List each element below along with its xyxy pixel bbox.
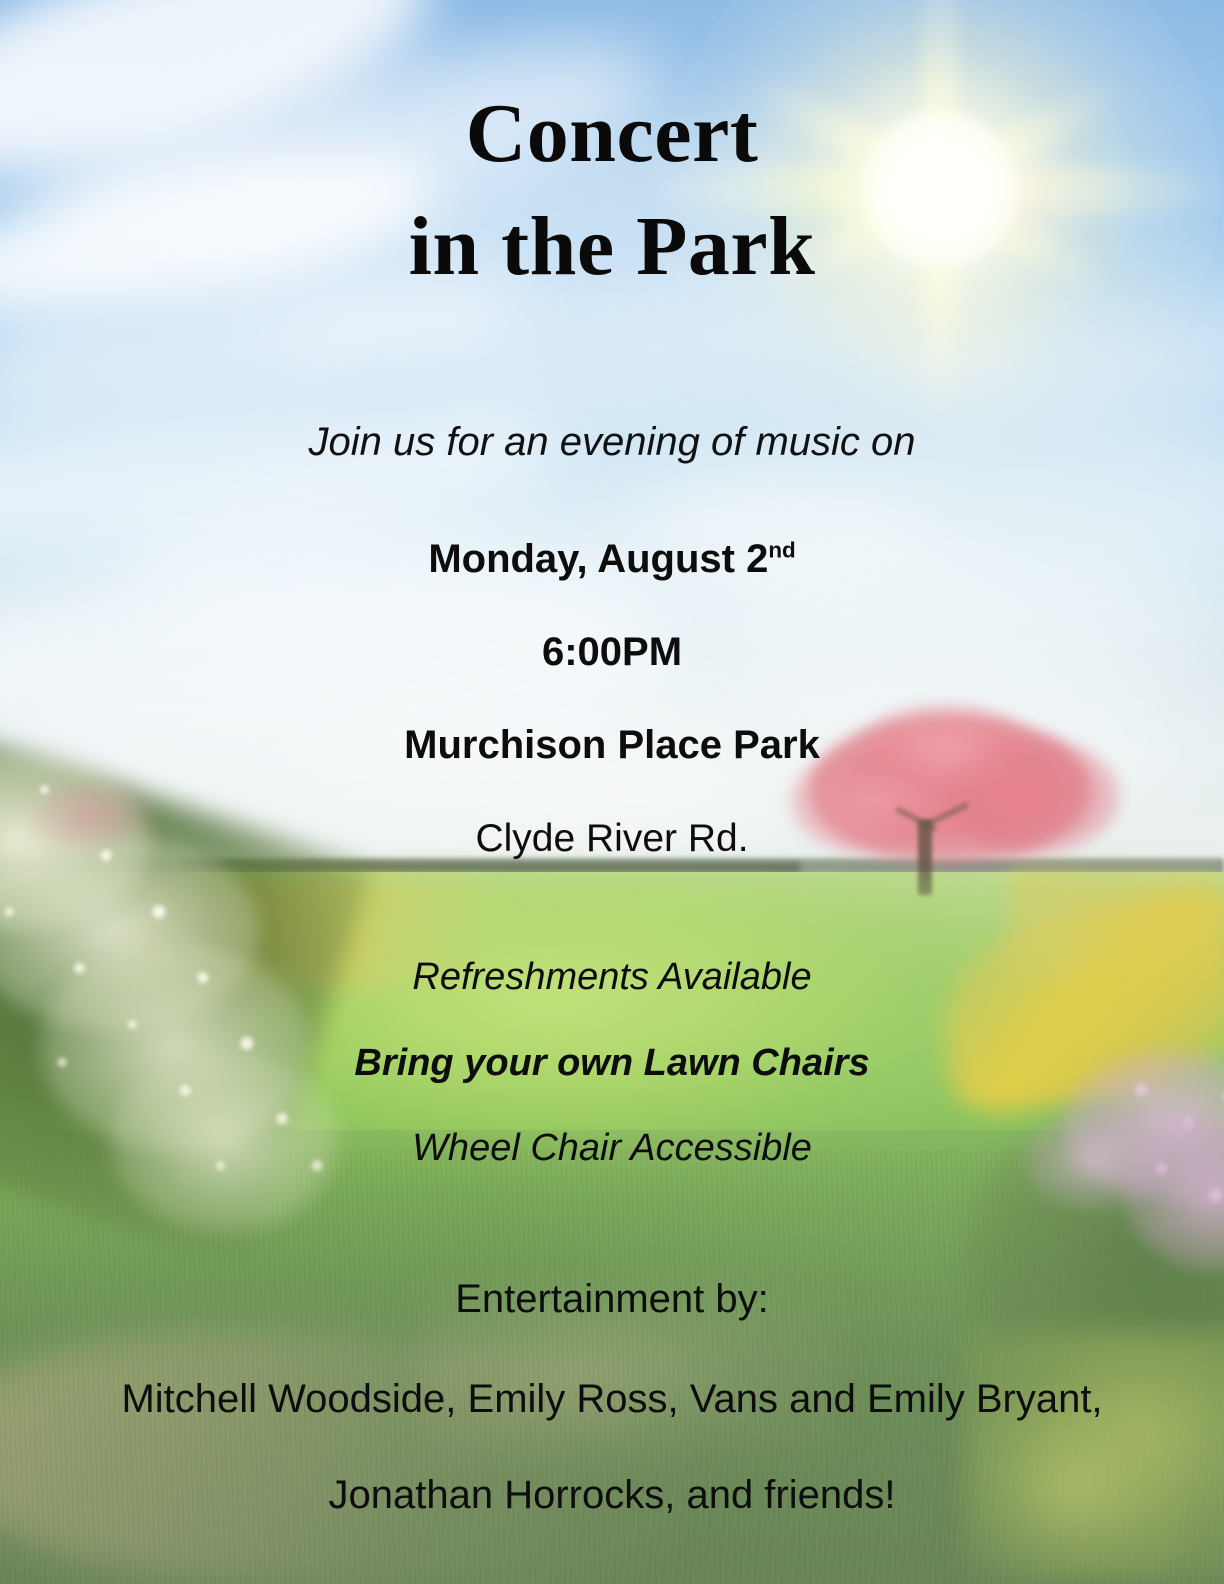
event-date-ordinal: nd bbox=[768, 538, 795, 563]
poster-title: Concert in the Park bbox=[0, 78, 1224, 303]
event-details: Monday, August 2nd 6:00PM Murchison Plac… bbox=[0, 536, 1224, 908]
event-notes: Refreshments Available Bring your own La… bbox=[0, 955, 1224, 1212]
title-line-2: in the Park bbox=[0, 191, 1224, 304]
note-refreshments: Refreshments Available bbox=[0, 955, 1224, 1001]
poster-lede: Join us for an evening of music on bbox=[0, 418, 1224, 466]
performers-line-2: Jonathan Horrocks, and friends! bbox=[0, 1471, 1224, 1519]
event-date: Monday, August 2nd bbox=[0, 536, 1224, 583]
performers-line-1: Mitchell Woodside, Emily Ross, Vans and … bbox=[0, 1375, 1224, 1423]
concert-poster: Concert in the Park Join us for an eveni… bbox=[0, 0, 1224, 1584]
event-date-text: Monday, August 2 bbox=[428, 537, 768, 581]
event-venue: Murchison Place Park bbox=[0, 722, 1224, 769]
entertainment-heading: Entertainment by: bbox=[0, 1275, 1224, 1323]
poster-text: Concert in the Park Join us for an eveni… bbox=[0, 0, 1224, 1584]
title-line-1: Concert bbox=[0, 78, 1224, 191]
note-lawn-chairs: Bring your own Lawn Chairs bbox=[0, 1041, 1224, 1087]
entertainment-section: Entertainment by: Mitchell Woodside, Emi… bbox=[0, 1275, 1224, 1567]
note-accessibility: Wheel Chair Accessible bbox=[0, 1126, 1224, 1172]
event-street: Clyde River Rd. bbox=[0, 816, 1224, 862]
event-time: 6:00PM bbox=[0, 629, 1224, 676]
